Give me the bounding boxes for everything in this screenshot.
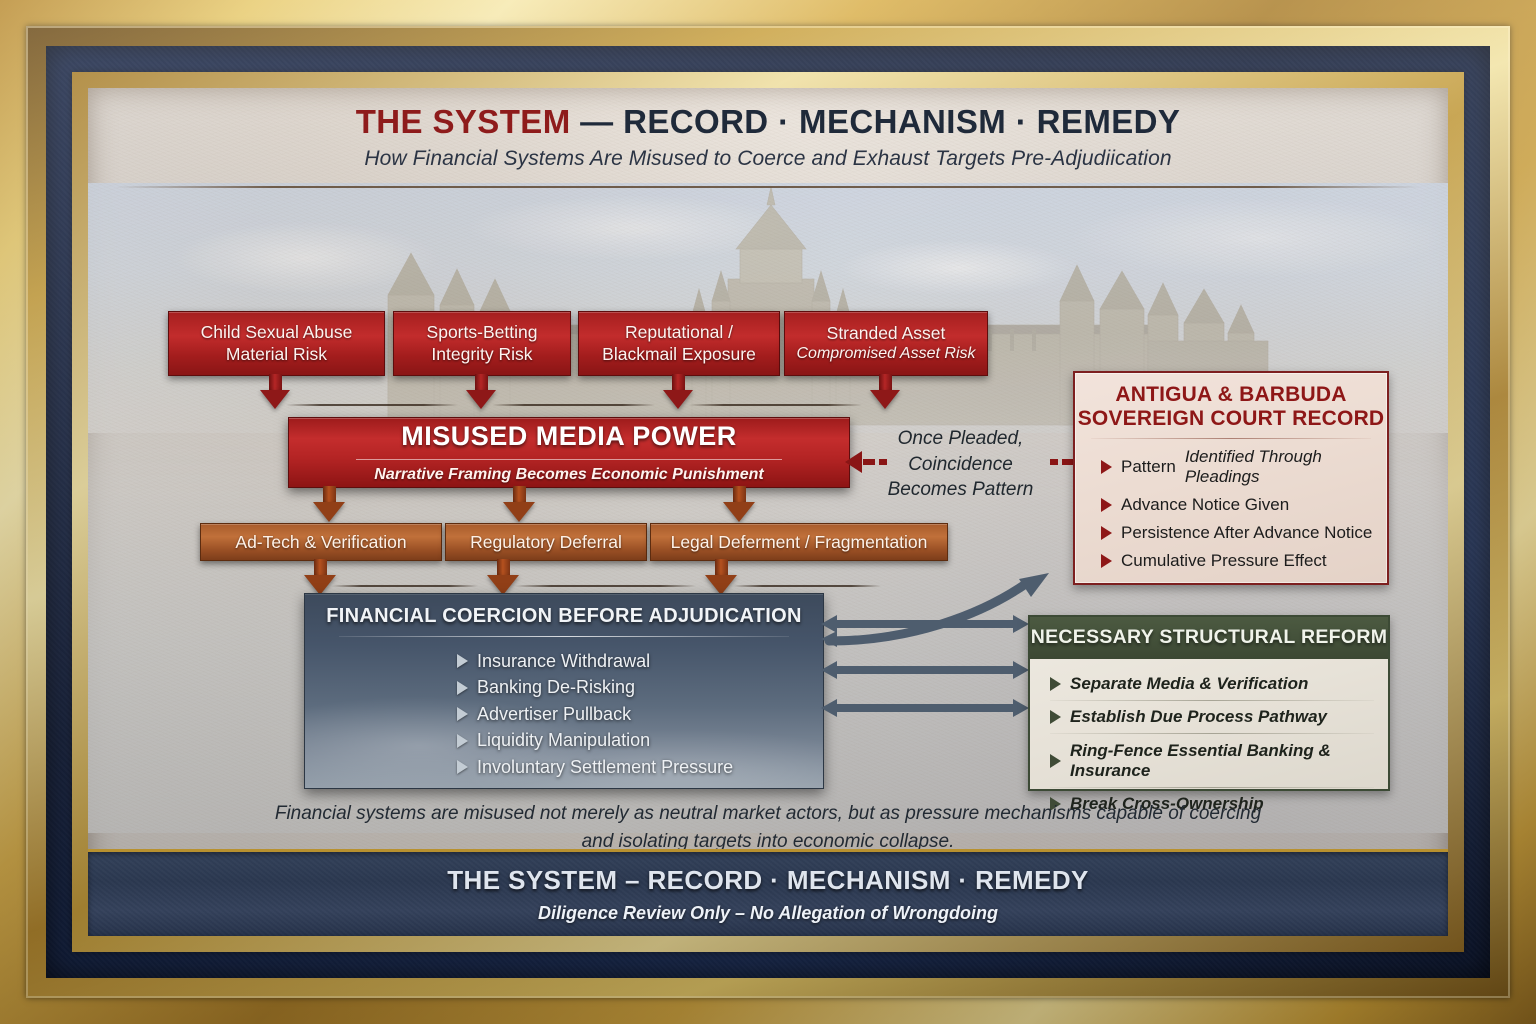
arrow-head-mech-1 — [304, 575, 336, 595]
arrow-left-dashed-icon — [845, 450, 889, 474]
risk-box-stranded-asset[interactable]: Stranded Asset Compromised Asset Risk — [784, 311, 988, 376]
arrow-head-risk-3 — [663, 390, 693, 409]
list-item[interactable]: Advertiser Pullback — [457, 704, 823, 725]
list-item[interactable]: Ring-Fence Essential Banking & Insurance — [1050, 734, 1374, 787]
antigua-items-list: Pattern Identified Through Pleadings Adv… — [1075, 447, 1387, 571]
triangle-bullet-icon — [457, 707, 468, 721]
mechanism-box-label: Legal Deferment / Fragmentation — [671, 532, 928, 553]
triangle-bullet-icon — [1050, 710, 1061, 724]
misused-media-power-divider — [356, 459, 782, 460]
misused-media-power-banner[interactable]: MISUSED MEDIA POWER Narrative Framing Be… — [288, 417, 850, 488]
antigua-item-text-plain: Advance Notice Given — [1121, 495, 1289, 515]
risk-box-line1: Child Sexual Abuse — [201, 322, 353, 343]
connector-rule-5 — [515, 585, 696, 587]
financial-coercion-divider — [339, 636, 789, 637]
arrow-head-risk-4 — [870, 390, 900, 409]
coercion-item-text: Insurance Withdrawal — [477, 651, 650, 672]
title-dark-part: RECORD · MECHANISM · REMEDY — [623, 103, 1180, 140]
triangle-bullet-icon — [1101, 498, 1112, 512]
arrow-coercion-to-reform-1-icon — [821, 612, 1029, 636]
mechanism-box-legal-deferment[interactable]: Legal Deferment / Fragmentation — [650, 523, 948, 561]
list-item[interactable]: Liquidity Manipulation — [457, 730, 823, 751]
triangle-bullet-icon — [457, 734, 468, 748]
antigua-item-text-plain: Cumulative Pressure Effect — [1121, 551, 1327, 571]
list-item[interactable]: Insurance Withdrawal — [457, 651, 823, 672]
caption-line1: Financial systems are misused not merely… — [88, 800, 1448, 828]
connector-rule-4 — [332, 585, 478, 587]
mechanism-box-label: Regulatory Deferral — [470, 532, 622, 553]
triangle-bullet-icon — [1050, 754, 1061, 768]
reform-item-text: Establish Due Process Pathway — [1070, 707, 1327, 727]
summary-caption: Financial systems are misused not merely… — [88, 800, 1448, 856]
list-item[interactable]: Involuntary Settlement Pressure — [457, 757, 823, 778]
antigua-title-line2: SOVEREIGN COURT RECORD — [1075, 407, 1387, 431]
footer-bar: THE SYSTEM – RECORD · MECHANISM · REMEDY… — [88, 849, 1448, 936]
reform-item-text: Separate Media & Verification — [1070, 674, 1308, 694]
triangle-bullet-icon — [1050, 677, 1061, 691]
risk-box-line1: Stranded Asset — [827, 323, 946, 344]
necessary-structural-reform-panel[interactable]: NECESSARY STRUCTURAL REFORM Separate Med… — [1028, 615, 1390, 791]
connector-rule-1 — [286, 404, 458, 406]
title-red-part: THE SYSTEM — [356, 103, 571, 140]
arrow-head-mech-3 — [705, 575, 737, 595]
arrow-coercion-to-antigua-curved-icon — [821, 569, 1051, 649]
poster-canvas: THE SYSTEM — RECORD · MECHANISM · REMEDY… — [88, 88, 1448, 936]
misused-media-power-title: MISUSED MEDIA POWER — [401, 421, 737, 452]
triangle-bullet-icon — [1101, 526, 1112, 540]
misused-media-power-subtitle: Narrative Framing Becomes Economic Punis… — [374, 466, 763, 484]
list-item[interactable]: Advance Notice Given — [1101, 495, 1387, 515]
antigua-barbuda-court-record-panel[interactable]: ANTIGUA & BARBUDA SOVEREIGN COURT RECORD… — [1073, 371, 1389, 585]
list-item[interactable]: Persistence After Advance Notice — [1101, 523, 1387, 543]
risk-box-line2: Blackmail Exposure — [602, 344, 756, 365]
reform-row: Ring-Fence Essential Banking & Insurance — [1050, 734, 1388, 788]
mechanism-box-regulatory-deferral[interactable]: Regulatory Deferral — [445, 523, 647, 561]
coercion-item-text: Banking De-Risking — [477, 677, 635, 698]
title-dash: — — [571, 103, 624, 140]
risk-box-line1: Reputational / — [625, 322, 733, 343]
antigua-title-line1: ANTIGUA & BARBUDA — [1075, 373, 1387, 407]
financial-coercion-panel[interactable]: FINANCIAL COERCION BEFORE ADJUDICATION I… — [304, 593, 824, 789]
arrow-head-risk-2 — [466, 390, 496, 409]
financial-coercion-list: Insurance Withdrawal Banking De-Risking … — [305, 643, 823, 778]
page-subtitle: How Financial Systems Are Misused to Coe… — [88, 147, 1448, 171]
reform-item-text: Ring-Fence Essential Banking & Insurance — [1070, 741, 1374, 781]
arrow-coercion-to-reform-2-icon — [821, 658, 1029, 682]
coercion-item-text: Involuntary Settlement Pressure — [477, 757, 733, 778]
financial-coercion-title: FINANCIAL COERCION BEFORE ADJUDICATION — [305, 594, 823, 628]
antigua-item-text-plain: Persistence After Advance Notice — [1121, 523, 1372, 543]
triangle-bullet-icon — [1101, 554, 1112, 568]
arrow-head-risk-1 — [260, 390, 290, 409]
antigua-divider — [1091, 438, 1371, 439]
list-item[interactable]: Banking De-Risking — [457, 677, 823, 698]
triangle-bullet-icon — [457, 681, 468, 695]
arrow-head-mech-2 — [487, 575, 519, 595]
reform-row: Establish Due Process Pathway — [1050, 701, 1388, 735]
triangle-bullet-icon — [1101, 460, 1112, 474]
risk-box-reputational-blackmail[interactable]: Reputational / Blackmail Exposure — [578, 311, 780, 376]
title-divider — [116, 186, 1420, 188]
once-pleaded-line1: Once Pleaded, — [858, 426, 1063, 452]
once-pleaded-line3: Becomes Pattern — [858, 477, 1063, 503]
reform-panel-title: NECESSARY STRUCTURAL REFORM — [1030, 617, 1388, 659]
connector-rule-3 — [689, 404, 862, 406]
risk-box-child-sexual-abuse[interactable]: Child Sexual Abuse Material Risk — [168, 311, 385, 376]
list-item[interactable]: Establish Due Process Pathway — [1050, 701, 1374, 734]
arrow-coercion-to-reform-3-icon — [821, 696, 1029, 720]
arrow-head-mmp-3 — [723, 502, 755, 522]
arrow-head-mmp-2 — [503, 502, 535, 522]
list-item[interactable]: Separate Media & Verification — [1050, 667, 1374, 700]
risk-box-line1: Sports-Betting — [427, 322, 538, 343]
list-item[interactable]: Cumulative Pressure Effect — [1101, 551, 1387, 571]
coercion-item-text: Liquidity Manipulation — [477, 730, 650, 751]
page-title: THE SYSTEM — RECORD · MECHANISM · REMEDY — [88, 103, 1448, 141]
list-item[interactable]: Pattern Identified Through Pleadings — [1101, 447, 1387, 487]
coercion-item-text: Advertiser Pullback — [477, 704, 631, 725]
antigua-item-text-plain: Pattern — [1121, 457, 1176, 477]
antigua-item-text-italic: Identified Through Pleadings — [1185, 447, 1387, 487]
reform-row: Separate Media & Verification — [1050, 667, 1388, 701]
footer-subtitle: Diligence Review Only – No Allegation of… — [538, 903, 998, 924]
risk-box-line2: Integrity Risk — [431, 344, 532, 365]
mechanism-box-label: Ad-Tech & Verification — [235, 532, 406, 553]
footer-title: THE SYSTEM – RECORD · MECHANISM · REMEDY — [447, 865, 1089, 896]
triangle-bullet-icon — [457, 760, 468, 774]
risk-box-sports-betting[interactable]: Sports-Betting Integrity Risk — [393, 311, 571, 376]
picture-frame-outer: THE SYSTEM — RECORD · MECHANISM · REMEDY… — [0, 0, 1536, 1024]
mechanism-box-ad-tech-verification[interactable]: Ad-Tech & Verification — [200, 523, 442, 561]
risk-box-line2: Material Risk — [226, 344, 327, 365]
triangle-bullet-icon — [457, 654, 468, 668]
arrow-head-mmp-1 — [313, 502, 345, 522]
risk-box-line2: Compromised Asset Risk — [796, 344, 975, 364]
connector-rule-2 — [492, 404, 655, 406]
